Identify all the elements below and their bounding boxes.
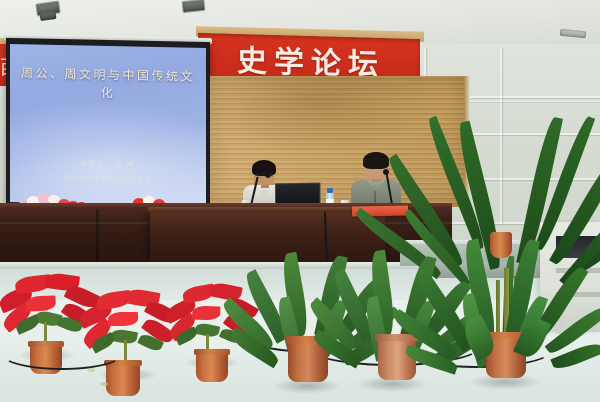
slide-title: 周公、周文明与中国传统文化 [16, 64, 200, 104]
poinsettia-pot-2 [106, 364, 140, 396]
microphone-head-icon [265, 172, 271, 178]
floor-debris [100, 382, 108, 386]
stage-seam [96, 209, 99, 267]
microphone-head-icon [383, 169, 389, 175]
slide-affiliation-line: 陕西师范大学历史文化学院 [16, 172, 200, 185]
floor-debris [88, 368, 95, 372]
poinsettia-pot-3 [196, 352, 228, 382]
poinsettia-pot-rim-3 [194, 349, 230, 355]
water-bottle-cap [327, 188, 333, 193]
wall-panel-seam [468, 100, 600, 102]
slide-speaker-line: 报告人：王 晖 [16, 156, 200, 170]
projection-screen: 周公、周文明与中国传统文化 报告人：王 晖 陕西师范大学历史文化学院 [10, 44, 206, 206]
floor-cable [0, 336, 124, 370]
lecture-hall-photo: 西 史学论坛 周公、周文明与中国传统文化 报告人：王 晖 陕西师范大学历史文化学… [0, 0, 600, 402]
person-right-hair [363, 152, 389, 169]
green-plant-pot-2 [378, 338, 416, 380]
